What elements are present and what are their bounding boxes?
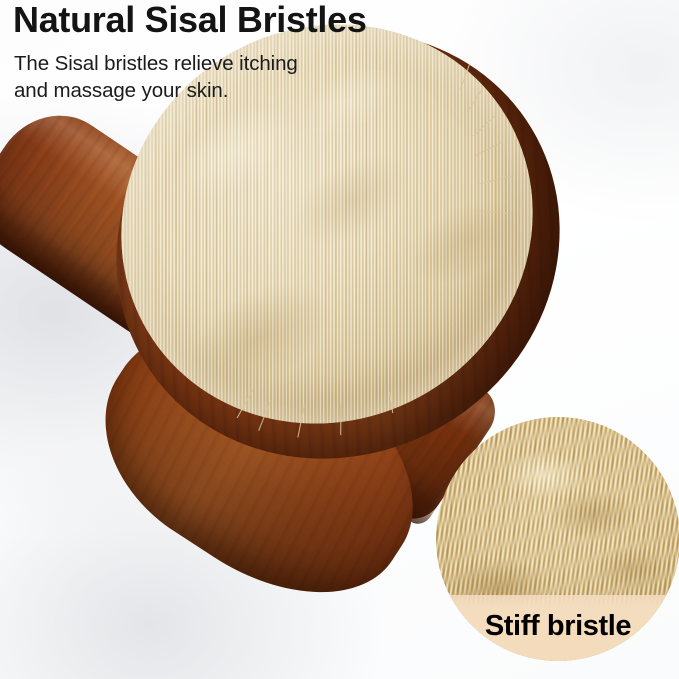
inset-caption-label: Stiff bristle [436, 612, 679, 641]
feature-description: The Sisal bristles relieve itching and m… [14, 50, 298, 104]
product-feature-image: Natural Sisal Bristles The Sisal bristle… [0, 0, 679, 679]
page-title: Natural Sisal Bristles [13, 0, 367, 40]
